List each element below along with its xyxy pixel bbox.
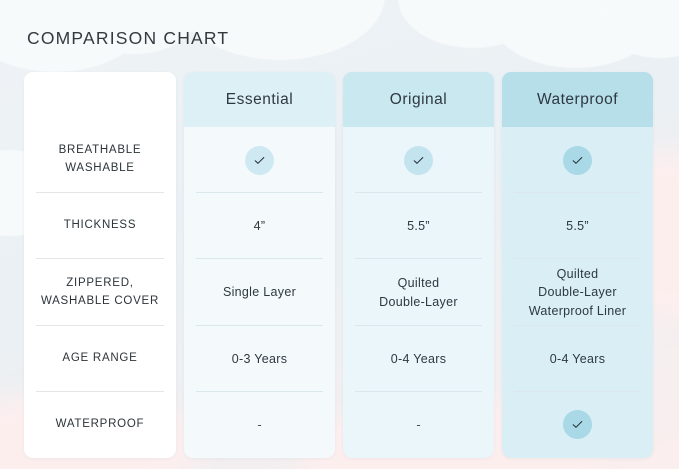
column-body-labels: BREATHABLE WASHABLE THICKNESS ZIPPERED, … (24, 127, 176, 458)
column-body-essential: 4” Single Layer 0-3 Years - (184, 127, 335, 458)
cell-value: 0-4 Years (550, 350, 606, 368)
check-icon (563, 146, 592, 175)
cell-essential-waterproof: - (184, 392, 335, 458)
column-body-original: 5.5” Quilted Double-Layer 0-4 Years - (343, 127, 494, 458)
column-original[interactable]: Original 5.5” Quilted Double-Layer 0-4 Y… (343, 72, 494, 458)
cell-original-age: 0-4 Years (343, 326, 494, 392)
cell-original-breathable (343, 127, 494, 193)
check-icon (404, 146, 433, 175)
check-icon (563, 410, 592, 439)
column-waterproof[interactable]: Waterproof 5.5” Quilted Double-Layer Wat… (502, 72, 653, 458)
cell-essential-cover: Single Layer (184, 259, 335, 325)
cell-value: Quilted Double-Layer Waterproof Liner (529, 265, 626, 319)
cell-value: 0-3 Years (232, 350, 288, 368)
column-header-essential: Essential (184, 72, 335, 127)
cell-value: Single Layer (223, 283, 296, 301)
cell-original-cover: Quilted Double-Layer (343, 259, 494, 325)
column-header-labels (24, 72, 176, 127)
table-row: BREATHABLE WASHABLE (24, 127, 176, 193)
row-label: THICKNESS (64, 217, 137, 235)
cell-value: 5.5” (407, 217, 430, 235)
cell-value: - (416, 417, 420, 432)
cell-essential-age: 0-3 Years (184, 326, 335, 392)
cell-essential-thickness: 4” (184, 193, 335, 259)
page-title: COMPARISON CHART (27, 28, 229, 49)
cell-value: 4” (254, 217, 266, 235)
cell-original-waterproof: - (343, 392, 494, 458)
cell-waterproof-thickness: 5.5” (502, 193, 653, 259)
cell-waterproof-waterproof (502, 392, 653, 458)
cell-value: 5.5” (566, 217, 589, 235)
column-essential[interactable]: Essential 4” Single Layer 0-3 Years - (184, 72, 335, 458)
cell-waterproof-breathable (502, 127, 653, 193)
cell-essential-breathable (184, 127, 335, 193)
table-row: WATERPROOF (24, 392, 176, 458)
cell-value: Quilted Double-Layer (379, 274, 458, 310)
row-label: BREATHABLE WASHABLE (59, 142, 142, 178)
row-label: AGE RANGE (62, 350, 137, 368)
column-header-waterproof: Waterproof (502, 72, 653, 127)
table-row: AGE RANGE (24, 326, 176, 392)
check-icon (245, 146, 274, 175)
column-labels: BREATHABLE WASHABLE THICKNESS ZIPPERED, … (24, 72, 176, 458)
comparison-table: BREATHABLE WASHABLE THICKNESS ZIPPERED, … (24, 72, 655, 458)
row-label: ZIPPERED, WASHABLE COVER (41, 275, 159, 311)
column-header-original: Original (343, 72, 494, 127)
cell-original-thickness: 5.5” (343, 193, 494, 259)
cell-value: - (257, 417, 261, 432)
column-body-waterproof: 5.5” Quilted Double-Layer Waterproof Lin… (502, 127, 653, 458)
cell-value: 0-4 Years (391, 350, 447, 368)
row-label: WATERPROOF (56, 416, 145, 434)
cell-waterproof-cover: Quilted Double-Layer Waterproof Liner (502, 259, 653, 325)
cell-waterproof-age: 0-4 Years (502, 326, 653, 392)
table-row: THICKNESS (24, 193, 176, 259)
table-row: ZIPPERED, WASHABLE COVER (24, 259, 176, 325)
